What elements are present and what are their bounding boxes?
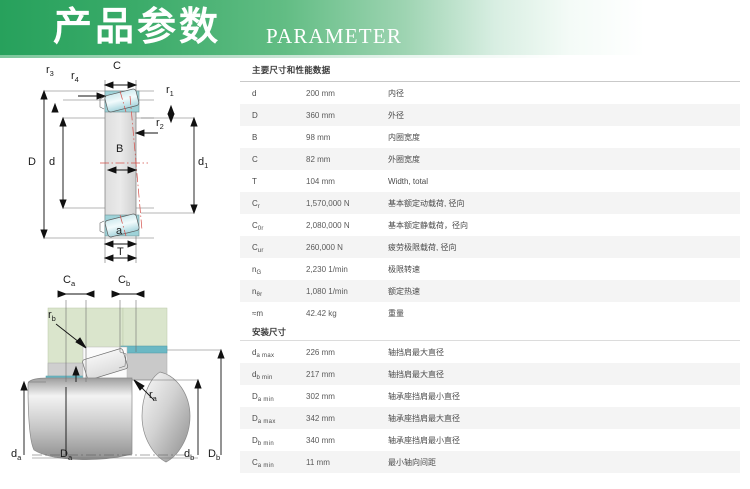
cell-value: 2,230 1/min (306, 265, 388, 274)
table-row: Cur260,000 N疲劳极限载荷, 径向 (240, 236, 740, 258)
cell-value: 98 mm (306, 133, 388, 142)
cell-description: 额定热速 (388, 286, 740, 297)
cell-symbol: B (240, 133, 306, 142)
dim-label-r3: r3 (46, 64, 54, 76)
page-title-cn: 产品参数 (53, 7, 221, 49)
dim-label-Da: Da (60, 448, 72, 460)
cell-symbol: da max (240, 348, 306, 357)
dim-label-B: B (116, 143, 123, 155)
cell-description: 轴承座挡肩最小直径 (388, 435, 740, 446)
table-row: D360 mm外径 (240, 104, 740, 126)
cell-value: 1,080 1/min (306, 287, 388, 296)
cell-symbol: db min (240, 370, 306, 379)
cell-description: 轴挡肩最大直径 (388, 369, 740, 380)
cell-description: 内圈宽度 (388, 132, 740, 143)
table-body-main: d200 mm内径D360 mm外径B98 mm内圈宽度C82 mm外圈宽度T1… (240, 82, 740, 324)
cell-symbol: C0r (240, 221, 306, 230)
cell-value: 342 mm (306, 414, 388, 423)
cell-description: 极限转速 (388, 264, 740, 275)
dim-label-r2: r2 (156, 117, 164, 129)
table-row: nθr1,080 1/min额定热速 (240, 280, 740, 302)
cell-description: 外径 (388, 110, 740, 121)
table-row: Ca min11 mm最小轴向间距 (240, 451, 740, 473)
cell-value: 360 mm (306, 111, 388, 120)
table-row: Cr1,570,000 N基本额定动载荷, 径向 (240, 192, 740, 214)
cell-value: 1,570,000 N (306, 199, 388, 208)
cell-value: 302 mm (306, 392, 388, 401)
table-body-mounting: da max226 mm轴挡肩最大直径db min217 mm轴挡肩最大直径Da… (240, 341, 740, 473)
cell-description: 轴承座挡肩最小直径 (388, 391, 740, 402)
table-row: nG2,230 1/min极限转速 (240, 258, 740, 280)
product-parameter-page: 产品参数 PARAMETER (0, 0, 750, 489)
cell-value: 104 mm (306, 177, 388, 186)
cell-value: 82 mm (306, 155, 388, 164)
cell-description: 内径 (388, 88, 740, 99)
dim-label-d: d (49, 156, 55, 168)
dim-label-T: T (117, 246, 124, 258)
cell-description: 轴挡肩最大直径 (388, 347, 740, 358)
cell-symbol: Da min (240, 392, 306, 401)
cell-value: 217 mm (306, 370, 388, 379)
dim-label-Db: Db (208, 448, 220, 460)
dim-label-da: da (11, 448, 21, 460)
dim-label-Ca: Ca (63, 274, 75, 286)
cell-description: 最小轴向间距 (388, 457, 740, 468)
cell-value: 340 mm (306, 436, 388, 445)
table-row: Da max342 mm轴承座挡肩最大直径 (240, 407, 740, 429)
mounting-svg (8, 272, 240, 484)
dim-label-ra: ra (149, 389, 157, 401)
cell-symbol: ≈m (240, 309, 306, 318)
cell-value: 2,080,000 N (306, 221, 388, 230)
cell-symbol: d (240, 89, 306, 98)
cell-symbol: Cr (240, 199, 306, 208)
cell-symbol: nθr (240, 287, 306, 296)
cell-value: 200 mm (306, 89, 388, 98)
table-row: Da min302 mm轴承座挡肩最小直径 (240, 385, 740, 407)
cell-value: 42.42 kg (306, 309, 388, 318)
cell-description: 基本额定静载荷，径向 (388, 220, 740, 231)
cell-symbol: Ca min (240, 458, 306, 467)
cell-description: 疲劳极限载荷, 径向 (388, 242, 740, 253)
dim-label-r4: r4 (71, 70, 79, 82)
table-row: C82 mm外圈宽度 (240, 148, 740, 170)
dim-label-db: db (184, 448, 194, 460)
table-section-title-main: 主要尺寸和性能数据 (240, 60, 740, 81)
table-row: db min217 mm轴挡肩最大直径 (240, 363, 740, 385)
bearing-cross-section-diagram: r3 r4 C r1 r2 B D d d1 a T (8, 58, 236, 270)
cell-description: 外圈宽度 (388, 154, 740, 165)
table-row: C0r2,080,000 N基本额定静载荷，径向 (240, 214, 740, 236)
parameter-table: 主要尺寸和性能数据 d200 mm内径D360 mm外径B98 mm内圈宽度C8… (240, 60, 740, 473)
dim-label-a: a (116, 225, 122, 237)
cell-symbol: T (240, 177, 306, 186)
table-section-title-mounting: 安装尺寸 (240, 324, 740, 340)
cell-symbol: Da max (240, 414, 306, 423)
table-row: d200 mm内径 (240, 82, 740, 104)
cell-value: 226 mm (306, 348, 388, 357)
table-row: T104 mmWidth, total (240, 170, 740, 192)
table-row: Db min340 mm轴承座挡肩最小直径 (240, 429, 740, 451)
cell-symbol: nG (240, 265, 306, 274)
cell-description: Width, total (388, 177, 740, 186)
cell-symbol: Db min (240, 436, 306, 445)
dim-label-rb: rb (48, 309, 56, 321)
mounting-dimensions-diagram: Ca Cb rb ra da Da db Db (8, 272, 240, 484)
dim-label-C: C (113, 60, 121, 72)
cell-value: 11 mm (306, 458, 388, 467)
cell-description: 重量 (388, 308, 740, 319)
cell-description: 轴承座挡肩最大直径 (388, 413, 740, 424)
cell-symbol: Cur (240, 243, 306, 252)
dim-label-r1: r1 (166, 84, 174, 96)
table-row: B98 mm内圈宽度 (240, 126, 740, 148)
cell-symbol: C (240, 155, 306, 164)
dim-label-Cb: Cb (118, 274, 130, 286)
table-row: da max226 mm轴挡肩最大直径 (240, 341, 740, 363)
cell-value: 260,000 N (306, 243, 388, 252)
cell-description: 基本额定动载荷, 径向 (388, 198, 740, 209)
cell-symbol: D (240, 111, 306, 120)
dim-label-D: D (28, 156, 36, 168)
table-row: ≈m42.42 kg重量 (240, 302, 740, 324)
dim-label-d1: d1 (198, 156, 208, 168)
page-title-en: PARAMETER (266, 24, 402, 48)
